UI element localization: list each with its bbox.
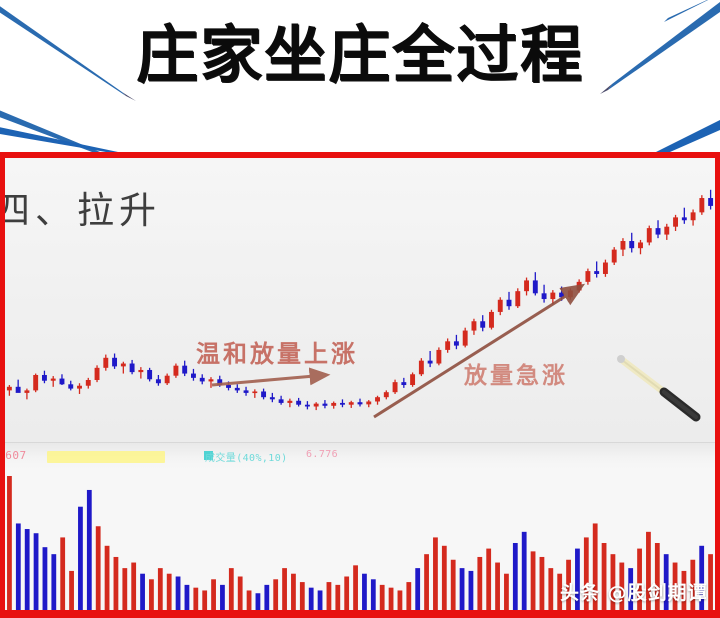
price-pane: 四、拉升 xyxy=(5,158,715,442)
candlestick-series xyxy=(5,158,715,442)
slide-image: 庄家坐庄全过程 四、拉升 7.607 成交量(40%,10) 6.776 xyxy=(0,0,720,618)
quote-strip: 7.607 成交量(40%,10) 6.776 xyxy=(5,442,715,469)
annotation-volume-surge: 放量急涨 xyxy=(464,356,568,390)
title-band: 庄家坐庄全过程 xyxy=(0,0,720,152)
quote-highlight xyxy=(47,451,165,463)
annotation-moderate-volume: 温和放量上涨 xyxy=(196,334,358,369)
quote-left-value: 7.607 xyxy=(5,449,27,462)
page-title: 庄家坐庄全过程 xyxy=(0,12,720,98)
quote-volume-label: 成交量(40%,10) xyxy=(205,449,288,464)
quote-right-value: 6.776 xyxy=(306,449,338,460)
chart-screenshot: 四、拉升 7.607 成交量(40%,10) 6.776 xyxy=(5,158,715,610)
watermark-text: 头条 @股剑期谭 xyxy=(560,578,708,605)
stylus-pen-icon xyxy=(612,352,708,430)
